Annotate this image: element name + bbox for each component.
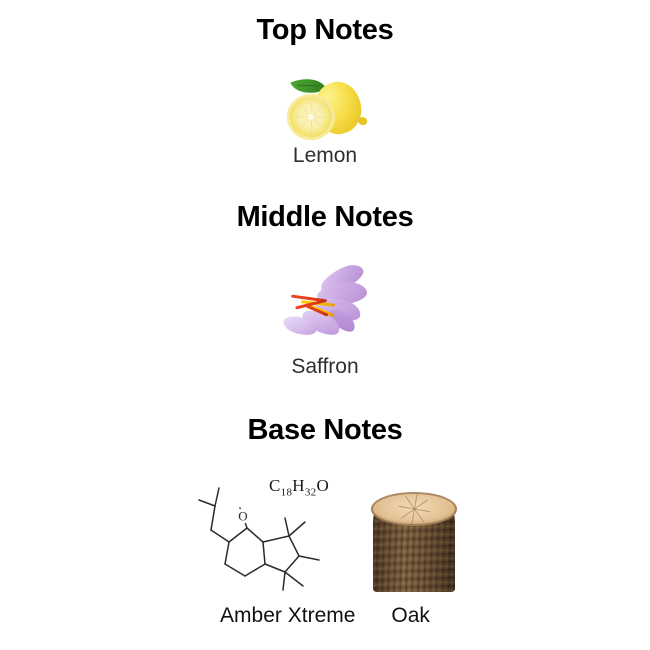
section-heading-middle-notes: Middle Notes [0, 203, 650, 232]
lemon-half-slice [287, 94, 335, 140]
fragrance-notes-page: Top Notes [0, 0, 650, 650]
section-heading-base-notes: Base Notes [0, 416, 650, 445]
top-notes-figure-row [0, 76, 650, 140]
note-label-lemon: Lemon [0, 144, 650, 167]
note-label-saffron: Saffron [0, 355, 650, 378]
base-notes-items: C18H32O [0, 472, 650, 592]
note-item-lemon [287, 76, 363, 140]
saffron-flower-image [275, 265, 375, 345]
oak-cut-surface [371, 492, 457, 526]
lemon-image [287, 76, 363, 140]
note-label-amber-xtreme: Amber Xtreme [220, 604, 355, 627]
top-notes-label-row: Lemon [0, 144, 650, 167]
note-item-amber-xtreme: C18H32O [193, 472, 353, 592]
note-item-oak [371, 482, 457, 592]
saffron-figure [275, 265, 375, 345]
note-label-oak: Oak [391, 604, 430, 627]
note-item-saffron [275, 265, 375, 345]
middle-notes-figure-row [0, 265, 650, 345]
base-notes-figure-row: C18H32O [0, 472, 650, 592]
section-heading-top-notes: Top Notes [0, 16, 650, 45]
oxygen-atom-label: O [238, 509, 247, 524]
oak-log-image [371, 482, 457, 592]
middle-notes-label-row: Saffron [0, 355, 650, 378]
base-notes-label-row: Amber Xtreme Oak [0, 604, 650, 627]
chemical-structure-diagram: C18H32O [193, 472, 353, 592]
amber-xtreme-skeletal-formula: O [193, 472, 353, 592]
lemon-figure [287, 76, 363, 140]
